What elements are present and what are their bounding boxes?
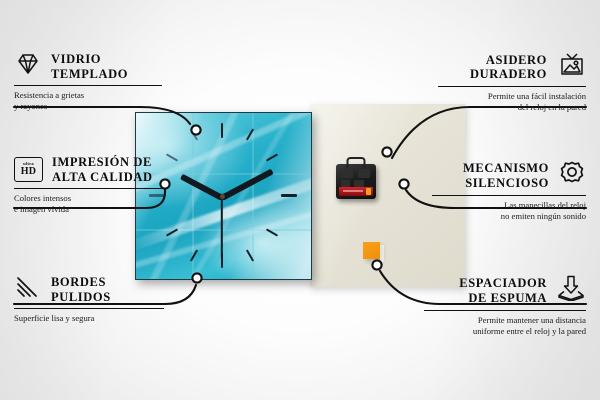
infographic-canvas: VIDRIO TEMPLADO Resistencia a grietas y …: [0, 0, 600, 400]
clock-tick: [166, 153, 178, 161]
feature-impresion-alta-calidad[interactable]: ultra HD IMPRESIÓN DE ALTA CALIDAD Color…: [14, 155, 166, 214]
clock-second-hand: [221, 197, 223, 259]
foam-spacer-sample: [363, 242, 380, 259]
product-photo: [135, 104, 360, 300]
feature-description: Permite una fácil instalación del reloj …: [438, 91, 586, 112]
feature-description: Colores intensos e imagen vívida: [14, 193, 166, 214]
wall-hanger-icon: [556, 52, 586, 82]
mechanism-hanger-hook: [347, 157, 366, 168]
divider: [14, 308, 164, 309]
feature-title: MECANISMO SILENCIOSO: [463, 161, 549, 190]
feature-title: ASIDERO DURADERO: [470, 53, 547, 82]
clock-battery: [339, 187, 373, 196]
divider: [14, 85, 162, 86]
foam-spacer-icon: [556, 275, 586, 306]
polished-edges-icon: [14, 275, 42, 304]
feature-asidero-duradero[interactable]: ASIDERO DURADERO Permite una fácil insta…: [438, 52, 586, 112]
divider: [438, 86, 586, 87]
feature-vidrio-templado[interactable]: VIDRIO TEMPLADO Resistencia a grietas y …: [14, 52, 162, 111]
feature-title: BORDES PULIDOS: [51, 275, 111, 304]
feature-bordes-pulidos[interactable]: BORDES PULIDOS Superficie lisa y segura: [14, 275, 164, 324]
clock-tick: [221, 123, 223, 138]
diamond-icon: [14, 52, 42, 81]
clock-center-hub: [220, 194, 225, 199]
divider: [14, 188, 166, 189]
feature-description: Permite mantener una distancia uniforme …: [424, 315, 586, 336]
feature-description: Superficie lisa y segura: [14, 313, 164, 323]
gear-icon: [558, 160, 586, 191]
feature-description: Las manecillas del reloj no emiten ningú…: [432, 200, 586, 221]
feature-description: Resistencia a grietas y rayones: [14, 90, 162, 111]
feature-title: VIDRIO TEMPLADO: [51, 52, 128, 81]
divider: [424, 310, 586, 311]
feature-title: ESPACIADOR DE ESPUMA: [459, 276, 547, 305]
clock-tick: [281, 194, 297, 197]
divider: [432, 195, 586, 196]
ultra-hd-icon: ultra HD: [14, 157, 43, 182]
feature-title: IMPRESIÓN DE ALTA CALIDAD: [52, 155, 153, 184]
clock-mechanism: [336, 164, 376, 199]
feature-espaciador-espuma[interactable]: ESPACIADOR DE ESPUMA Permite mantener un…: [424, 275, 586, 336]
feature-mecanismo-silencioso[interactable]: MECANISMO SILENCIOSO Las manecillas del …: [432, 160, 586, 221]
